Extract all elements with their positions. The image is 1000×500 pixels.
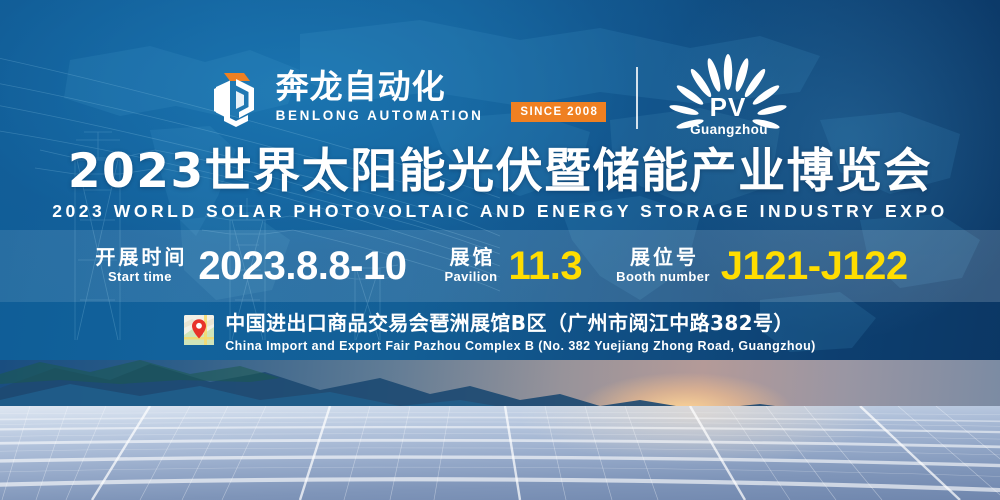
- booth-number-label-en: Booth number: [616, 269, 710, 286]
- info-row: 开展时间 Start time 2023.8.8-10 展馆 Pavilion …: [0, 230, 1000, 302]
- brand-name-cn: 奔龙自动化: [276, 70, 484, 105]
- benlong-cube-logo-icon: [206, 69, 262, 127]
- start-time-label-cn: 开展时间: [92, 246, 187, 269]
- brand-text: 奔龙自动化 BENLONG AUTOMATION: [276, 70, 484, 126]
- venue-address-text: 中国进出口商品交易会琶洲展馆B区（广州市阅江中路382号） China Impo…: [225, 311, 816, 355]
- since-badge: SINCE 2008: [511, 102, 606, 122]
- booth-number-label: 展位号 Booth number: [616, 246, 710, 286]
- solar-panel-grid-lines: [0, 406, 1000, 500]
- svg-text:PV: PV: [710, 92, 747, 122]
- pavilion-label-en: Pavilion: [444, 269, 497, 286]
- expo-title-en: 2023 WORLD SOLAR PHOTOVOLTAIC AND ENERGY…: [0, 203, 1000, 221]
- header-logo-row: 奔龙自动化 BENLONG AUTOMATION SINCE 2008: [0, 52, 1000, 144]
- info-item-start-time: 开展时间 Start time 2023.8.8-10: [92, 246, 406, 286]
- pavilion-value: 11.3: [509, 246, 583, 286]
- svg-text:Guangzhou: Guangzhou: [690, 122, 768, 137]
- info-item-pavilion: 展馆 Pavilion 11.3: [444, 246, 582, 286]
- logo-divider: [636, 67, 638, 129]
- venue-address-en: China Import and Export Fair Pazhou Comp…: [225, 337, 816, 355]
- start-time-label: 开展时间 Start time: [92, 246, 187, 286]
- expo-banner: 奔龙自动化 BENLONG AUTOMATION SINCE 2008: [0, 0, 1000, 500]
- map-pin-icon: [184, 315, 214, 345]
- pavilion-label-cn: 展馆: [446, 246, 495, 269]
- venue-address-cn: 中国进出口商品交易会琶洲展馆B区（广州市阅江中路382号）: [225, 311, 816, 336]
- start-time-value: 2023.8.8-10: [198, 246, 406, 286]
- brand-name-en: BENLONG AUTOMATION: [276, 106, 484, 126]
- solar-farm-photo: [0, 360, 1000, 500]
- pavilion-label: 展馆 Pavilion: [444, 246, 497, 286]
- info-item-booth-number: 展位号 Booth number J121-J122: [616, 246, 907, 286]
- booth-number-value: J121-J122: [721, 246, 908, 286]
- pv-guangzhou-logo: PV Guangzhou: [664, 54, 794, 142]
- start-time-label-en: Start time: [108, 269, 172, 286]
- booth-number-label-cn: 展位号: [627, 246, 699, 269]
- pv-guangzhou-sunburst-logo-icon: PV Guangzhou: [664, 54, 794, 142]
- expo-title-cn: 2023世界太阳能光伏暨储能产业博览会: [0, 148, 1000, 195]
- venue-address: 中国进出口商品交易会琶洲展馆B区（广州市阅江中路382号） China Impo…: [0, 311, 1000, 361]
- brand-benlong: 奔龙自动化 BENLONG AUTOMATION SINCE 2008: [206, 69, 607, 127]
